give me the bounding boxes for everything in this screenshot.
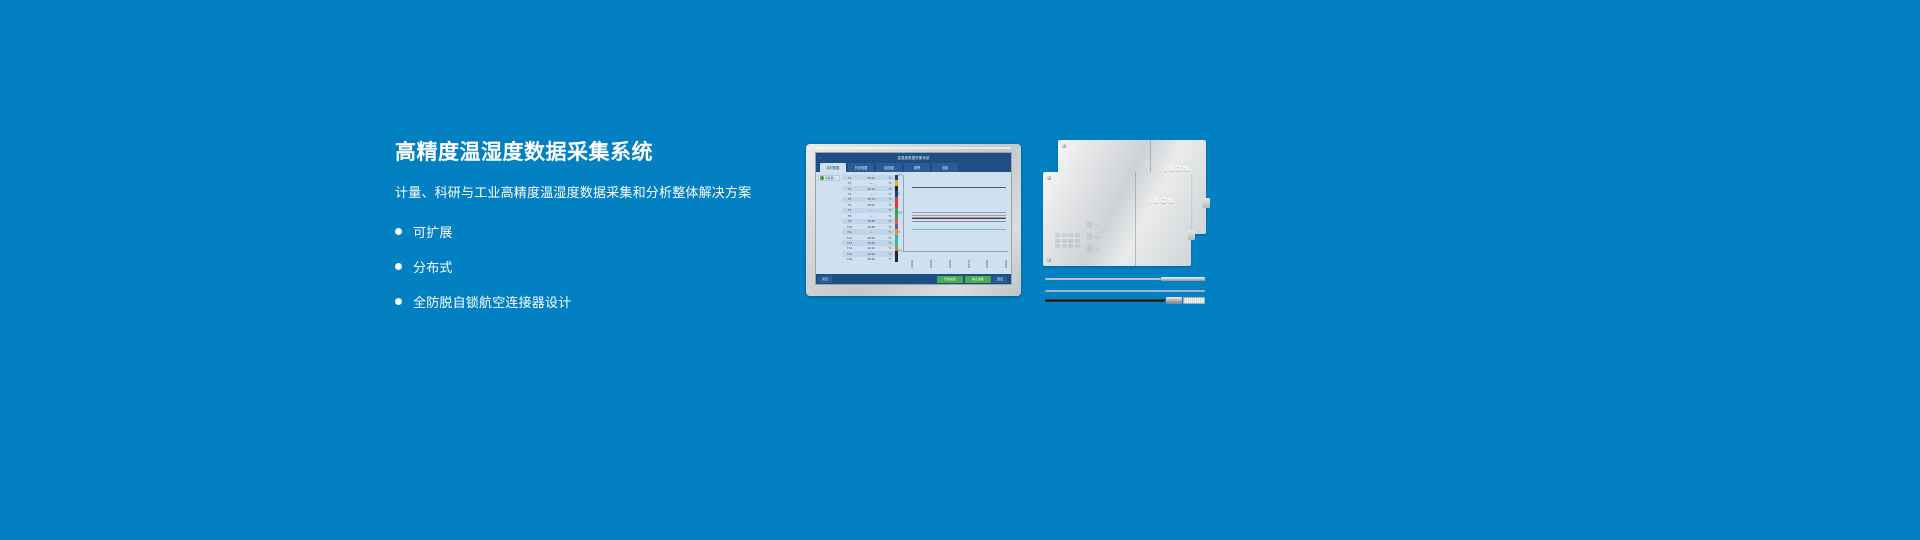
chart-series-line <box>912 212 1006 213</box>
table-row[interactable]: T1326.28℃ <box>842 240 898 245</box>
cell-channel: T13 <box>842 241 857 245</box>
table-row[interactable]: T525.73℃ <box>842 197 898 202</box>
port-icon <box>1055 239 1060 243</box>
port-icon <box>1062 233 1067 237</box>
cell-value: 26.28 <box>857 241 886 245</box>
acquisition-module-front: INON CH1 <box>1043 172 1191 266</box>
feature-item-0: 可扩展 <box>395 222 815 241</box>
sidebar-item-label: 采集器 1 <box>825 176 836 180</box>
feature-item-2: 全防脱自锁航空连接器设计 <box>395 292 815 311</box>
cell-value: 25.90 <box>857 252 886 256</box>
page-subtitle: 计量、科研与工业高精度温湿度数据采集和分析整体解决方案 <box>395 184 815 202</box>
cable <box>1045 278 1161 280</box>
cell-channel: T2 <box>842 181 857 185</box>
port-icon <box>1068 239 1073 243</box>
module-seam <box>1135 172 1136 266</box>
chart-series-line <box>912 218 1006 219</box>
cell-channel: T11 <box>842 230 857 234</box>
chart-y-tick: 26.5 <box>897 174 902 177</box>
channel-label: CH2 <box>1094 235 1100 239</box>
table-row[interactable]: T1525.90℃ <box>842 251 898 256</box>
sidebar-item-collector[interactable]: 采集器 1 <box>818 175 840 181</box>
table-row[interactable]: T4---℃ <box>842 191 898 196</box>
cell-unit: ℃ <box>886 208 895 212</box>
cell-unit: ℃ <box>886 192 895 196</box>
cable <box>1045 290 1205 292</box>
cell-value: 26.11 <box>857 246 886 250</box>
feature-label: 分布式 <box>413 257 453 276</box>
chart-x-tick: 10:20:11 <box>911 252 914 268</box>
chart-x-axis: 10:20:1110:22:3010:25:0210:27:2110:29:40… <box>911 252 1008 268</box>
cell-value: 25.73 <box>857 197 886 201</box>
chart-x-tick: 10:29:40 <box>986 252 989 268</box>
table-row[interactable]: T925.98℃ <box>842 219 898 224</box>
table-row[interactable]: T11---℃ <box>842 229 898 234</box>
cell-value: 25.98 <box>857 219 886 223</box>
start-acquisition-button[interactable]: 开始采集 <box>937 276 963 283</box>
cell-unit: ℃ <box>886 236 895 240</box>
chart-y-tick: 25 <box>897 231 900 234</box>
table-row[interactable]: T125.31℃ <box>842 175 898 180</box>
module-label-row: CH3 <box>1087 245 1100 252</box>
table-row[interactable]: T1625.94℃ <box>842 257 898 262</box>
cell-unit: ℃ <box>886 187 895 191</box>
chart-x-tick: 10:27:21 <box>968 252 971 268</box>
chart-series-line <box>912 221 1006 222</box>
cell-value: --- <box>857 230 886 234</box>
channel-label: CH1 <box>1094 223 1100 227</box>
brand-logo: INON <box>1150 198 1176 205</box>
cell-unit: ℃ <box>886 214 895 218</box>
table-row[interactable]: T1225.90℃ <box>842 235 898 240</box>
feature-list: 可扩展 分布式 全防脱自锁航空连接器设计 <box>395 222 815 311</box>
status-online-icon <box>820 176 824 180</box>
screen-sidebar: 采集器 1 <box>816 172 842 274</box>
feature-label: 可扩展 <box>413 222 453 241</box>
chart-series-line <box>912 217 1006 218</box>
cell-unit: ℃ <box>886 230 895 234</box>
cell-value: --- <box>857 214 886 218</box>
channel-port-icon <box>1087 233 1092 240</box>
chart-x-tick: 10:25:02 <box>949 252 952 268</box>
cell-channel: T12 <box>842 236 857 240</box>
tab-settings[interactable]: 设置 <box>932 163 958 172</box>
port-icon <box>1062 239 1067 243</box>
cell-value: 25.88 <box>857 225 886 229</box>
back-arrow-icon[interactable]: ‹ <box>819 156 823 160</box>
module-connector <box>1188 230 1195 240</box>
tab-curve-chart[interactable]: 曲线图 <box>876 163 902 172</box>
cell-channel: T14 <box>842 246 857 250</box>
table-row[interactable]: T7---℃ <box>842 208 898 213</box>
chart-x-tick: 10:22:30 <box>930 252 933 268</box>
tab-realtime-data[interactable]: 实时数据 <box>820 163 846 172</box>
table-row[interactable]: T625.61℃ <box>842 202 898 207</box>
table-row[interactable]: T326.14℃ <box>842 186 898 191</box>
bullet-dot-icon <box>395 228 402 235</box>
cell-channel: T4 <box>842 192 857 196</box>
screen-title: 温湿度数据采集系统 <box>897 155 929 160</box>
channel-port-icon <box>1087 245 1092 252</box>
knurled-grip <box>1183 297 1205 304</box>
screen-body: 采集器 1 T125.31℃T2---℃T326.14℃T4---℃T525.7… <box>816 172 1011 274</box>
hero-copy-block: 高精度温湿度数据采集系统 计量、科研与工业高精度温湿度数据采集和分析整体解决方案… <box>395 140 815 311</box>
panel-pc-screen: ‹ 温湿度数据采集系统 实时数据 历史数据 曲线图 报警 设置 采集器 1 <box>815 152 1012 285</box>
channel-port-icon <box>1087 221 1092 228</box>
cell-channel: T9 <box>842 219 857 223</box>
cell-unit: ℃ <box>886 257 895 261</box>
bullet-dot-icon <box>395 298 402 305</box>
screw-icon <box>1047 176 1051 180</box>
module-label-row: CH1 <box>1087 221 1100 228</box>
cell-channel: T1 <box>842 176 857 180</box>
trend-chart: 26.52625.52524.5 10:20:1110:22:3010:25:0… <box>898 172 1011 274</box>
port-icon <box>1062 244 1067 248</box>
port-icon <box>1075 239 1080 243</box>
probe-tip <box>1161 277 1205 281</box>
channel-label: CH3 <box>1094 247 1100 251</box>
cell-value: 25.31 <box>857 176 886 180</box>
cell-unit: ℃ <box>886 252 895 256</box>
cell-value: --- <box>857 181 886 185</box>
feature-label: 全防脱自锁航空连接器设计 <box>413 292 571 311</box>
cell-unit: ℃ <box>886 176 895 180</box>
module-label-row: CH2 <box>1087 233 1100 240</box>
panel-pc-device: ‹ 温湿度数据采集系统 实时数据 历史数据 曲线图 报警 设置 采集器 1 <box>806 144 1021 296</box>
page-title: 高精度温湿度数据采集系统 <box>395 140 815 166</box>
probe-blue <box>1045 288 1205 293</box>
cell-channel: T8 <box>842 214 857 218</box>
hero-banner: 高精度温湿度数据采集系统 计量、科研与工业高精度温湿度数据采集和分析整体解决方案… <box>0 0 1920 540</box>
chart-series-line <box>912 187 1006 188</box>
tab-alarm[interactable]: 报警 <box>904 163 930 172</box>
cell-channel: T3 <box>842 187 857 191</box>
chart-series-line <box>912 215 1006 216</box>
cell-channel: T16 <box>842 257 857 261</box>
module-channel-labels: CH1 CH2 CH3 <box>1087 221 1100 252</box>
tab-history-data[interactable]: 历史数据 <box>848 163 874 172</box>
stop-acquisition-button[interactable]: 停止采集 <box>965 276 991 283</box>
cell-unit: ℃ <box>886 225 895 229</box>
screen-titlebar: ‹ 温湿度数据采集系统 <box>816 153 1011 162</box>
chart-y-tick: 26 <box>897 193 900 196</box>
cell-channel: T5 <box>842 197 857 201</box>
port-icon <box>1075 244 1080 248</box>
module-connector <box>1203 198 1210 208</box>
cell-channel: T15 <box>842 252 857 256</box>
chart-y-tick: 24.5 <box>897 250 902 253</box>
table-row[interactable]: T1025.88℃ <box>842 224 898 229</box>
chart-plot-area: 26.52625.52524.5 <box>903 175 1008 252</box>
cell-value: 25.94 <box>857 257 886 261</box>
table-row[interactable]: T8---℃ <box>842 213 898 218</box>
screen-tabbar: 实时数据 历史数据 曲线图 报警 设置 <box>816 162 1011 172</box>
chart-y-tick: 25.5 <box>897 212 902 215</box>
cell-unit: ℃ <box>886 219 895 223</box>
cell-value: --- <box>857 208 886 212</box>
port-icon <box>1068 233 1073 237</box>
channel-table: T125.31℃T2---℃T326.14℃T4---℃T525.73℃T625… <box>842 172 898 274</box>
bullet-dot-icon <box>395 263 402 270</box>
probe-aviation-connector <box>1045 298 1205 303</box>
screw-icon <box>1062 144 1066 148</box>
chart-x-tick: 10:32:01 <box>1005 252 1008 268</box>
cell-channel: T7 <box>842 208 857 212</box>
product-photo-group: ‹ 温湿度数据采集系统 实时数据 历史数据 曲线图 报警 设置 采集器 1 <box>790 130 1220 310</box>
cell-unit: ℃ <box>886 246 895 250</box>
cell-unit: ℃ <box>886 181 895 185</box>
cell-channel: T6 <box>842 203 857 207</box>
table-row[interactable]: T1426.11℃ <box>842 246 898 251</box>
cable <box>1045 299 1165 302</box>
cell-unit: ℃ <box>886 197 895 201</box>
clear-button[interactable]: 清空 <box>818 276 832 283</box>
cell-value: 25.61 <box>857 203 886 207</box>
cell-unit: ℃ <box>886 203 895 207</box>
feature-item-1: 分布式 <box>395 257 815 276</box>
screen-footer-bar: 清空 开始采集 停止采集 退出 <box>816 274 1011 284</box>
port-icon <box>1075 233 1080 237</box>
cell-value: --- <box>857 192 886 196</box>
table-row[interactable]: T2---℃ <box>842 180 898 185</box>
probe-braided <box>1045 276 1205 281</box>
cell-value: 26.14 <box>857 187 886 191</box>
screw-icon <box>1047 258 1051 262</box>
port-icon <box>1055 233 1060 237</box>
cell-channel: T10 <box>842 225 857 229</box>
cell-unit: ℃ <box>886 241 895 245</box>
module-port-grid <box>1055 233 1080 248</box>
port-icon <box>1055 244 1060 248</box>
aviation-connector <box>1166 297 1182 304</box>
cell-value: 25.90 <box>857 236 886 240</box>
port-icon <box>1068 244 1073 248</box>
exit-button[interactable]: 退出 <box>993 276 1007 283</box>
chart-series-line <box>912 229 1006 230</box>
